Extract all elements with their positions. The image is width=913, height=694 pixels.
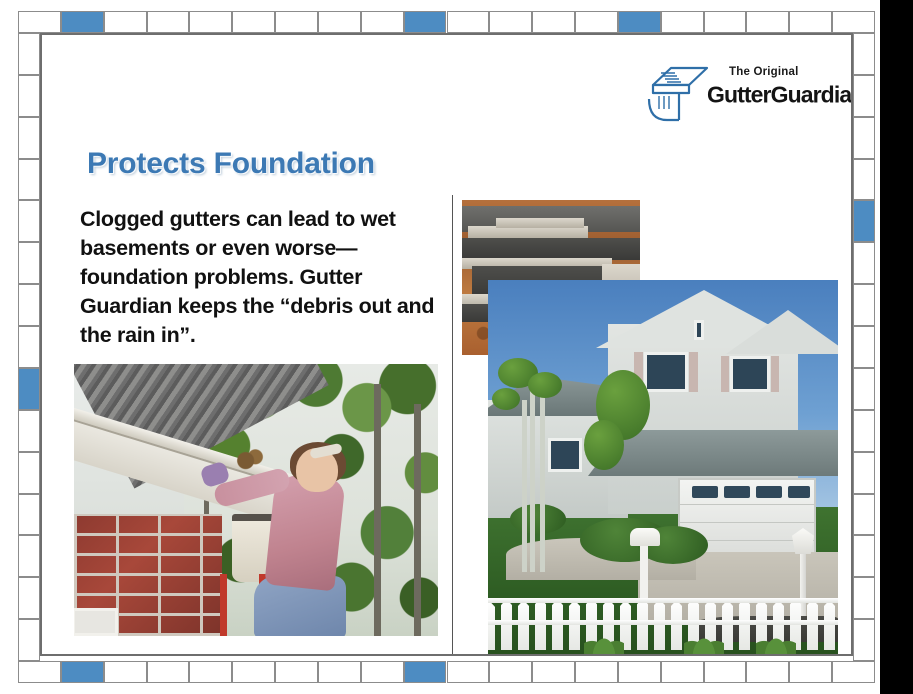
frame-cell-left-6: [18, 284, 40, 326]
frame-cell-top-14: [618, 11, 661, 33]
logo-tagline: The Original: [729, 65, 837, 79]
frame-cell-bottom-3: [147, 661, 190, 683]
frame-cell-bottom-7: [318, 661, 361, 683]
frame-cell-left-2: [18, 117, 40, 159]
frame-cell-bottom-2: [104, 661, 147, 683]
frame-cell-top-17: [746, 11, 789, 33]
frame-cell-right-1: [853, 75, 875, 117]
frame-cell-top-9: [404, 11, 447, 33]
frame-cell-right-13: [853, 577, 875, 619]
frame-cell-right-0: [853, 33, 875, 75]
frame-cell-bottom-12: [532, 661, 575, 683]
logo-wordmark-text: GutterGuardian: [707, 82, 853, 108]
frame-cell-right-12: [853, 535, 875, 577]
frame-cell-bottom-10: [447, 661, 490, 683]
fence-picket: [569, 600, 580, 650]
frame-cell-right-11: [853, 494, 875, 536]
frame-cell-bottom-19: [832, 661, 875, 683]
frame-cell-left-3: [18, 159, 40, 201]
frame-cell-top-2: [104, 11, 147, 33]
frame-cell-bottom-17: [746, 661, 789, 683]
frame-cell-left-4: [18, 200, 40, 242]
presentation-slide: The Original GutterGuardian™ Protects Fo…: [40, 33, 853, 656]
frame-cell-right-9: [853, 410, 875, 452]
fence-picket: [488, 601, 495, 650]
column-divider: [452, 195, 453, 656]
frame-cell-right-7: [853, 326, 875, 368]
fence-rail: [488, 598, 838, 603]
frame-cell-top-18: [789, 11, 832, 33]
frame-cell-left-0: [18, 33, 40, 75]
right-black-strip: [880, 0, 913, 694]
frame-cell-left-9: [18, 410, 40, 452]
slide-page: The Original GutterGuardian™ Protects Fo…: [0, 0, 913, 694]
frame-cell-bottom-6: [275, 661, 318, 683]
gutter-guardian-logo: The Original GutterGuardian™: [645, 61, 835, 127]
frame-cell-bottom-5: [232, 661, 275, 683]
frame-cell-top-5: [232, 11, 275, 33]
frame-cell-top-7: [318, 11, 361, 33]
fence-picket: [824, 600, 835, 650]
frame-cell-right-10: [853, 452, 875, 494]
fence-picket: [671, 600, 682, 650]
frame-cell-right-2: [853, 117, 875, 159]
frame-cell-bottom-11: [489, 661, 532, 683]
frame-cell-bottom-14: [618, 661, 661, 683]
frame-cell-top-12: [532, 11, 575, 33]
frame-cell-right-5: [853, 242, 875, 284]
frame-cell-top-13: [575, 11, 618, 33]
frame-cell-left-13: [18, 577, 40, 619]
frame-cell-top-1: [61, 11, 104, 33]
frame-cell-right-6: [853, 284, 875, 326]
frame-cell-right-3: [853, 159, 875, 201]
frame-cell-top-8: [361, 11, 404, 33]
frame-cell-right-8: [853, 368, 875, 410]
frame-cell-right-4: [853, 200, 875, 242]
frame-cell-bottom-1: [61, 661, 104, 683]
frame-cell-bottom-4: [189, 661, 232, 683]
frame-cell-bottom-15: [661, 661, 704, 683]
frame-cell-left-11: [18, 494, 40, 536]
frame-cell-top-16: [704, 11, 747, 33]
woman-cleaning-gutters-photo: [74, 364, 438, 636]
fence-picket: [518, 600, 529, 650]
frame-cell-top-10: [447, 11, 490, 33]
frame-cell-bottom-13: [575, 661, 618, 683]
frame-cell-top-11: [489, 11, 532, 33]
frame-cell-left-8: [18, 368, 40, 410]
frame-cell-bottom-0: [18, 661, 61, 683]
frame-cell-top-0: [18, 11, 61, 33]
logo-wordmark: GutterGuardian™: [707, 79, 837, 108]
frame-cell-left-10: [18, 452, 40, 494]
frame-cell-bottom-16: [704, 661, 747, 683]
frame-cell-left-1: [18, 75, 40, 117]
frame-cell-left-14: [18, 619, 40, 661]
page-title: Protects Foundation: [87, 147, 375, 181]
frame-cell-top-4: [189, 11, 232, 33]
body-text: Clogged gutters can lead to wet basement…: [80, 205, 440, 350]
frame-cell-top-6: [275, 11, 318, 33]
frame-cell-top-3: [147, 11, 190, 33]
frame-cell-right-14: [853, 619, 875, 661]
frame-cell-top-19: [832, 11, 875, 33]
frame-cell-bottom-9: [404, 661, 447, 683]
frame-cell-bottom-18: [789, 661, 832, 683]
frame-cell-top-15: [661, 11, 704, 33]
frame-cell-left-5: [18, 242, 40, 284]
suburban-house-photo: [488, 280, 838, 656]
frame-cell-left-12: [18, 535, 40, 577]
gutter-illustration-icon: [645, 63, 711, 123]
frame-cell-bottom-8: [361, 661, 404, 683]
frame-cell-left-7: [18, 326, 40, 368]
